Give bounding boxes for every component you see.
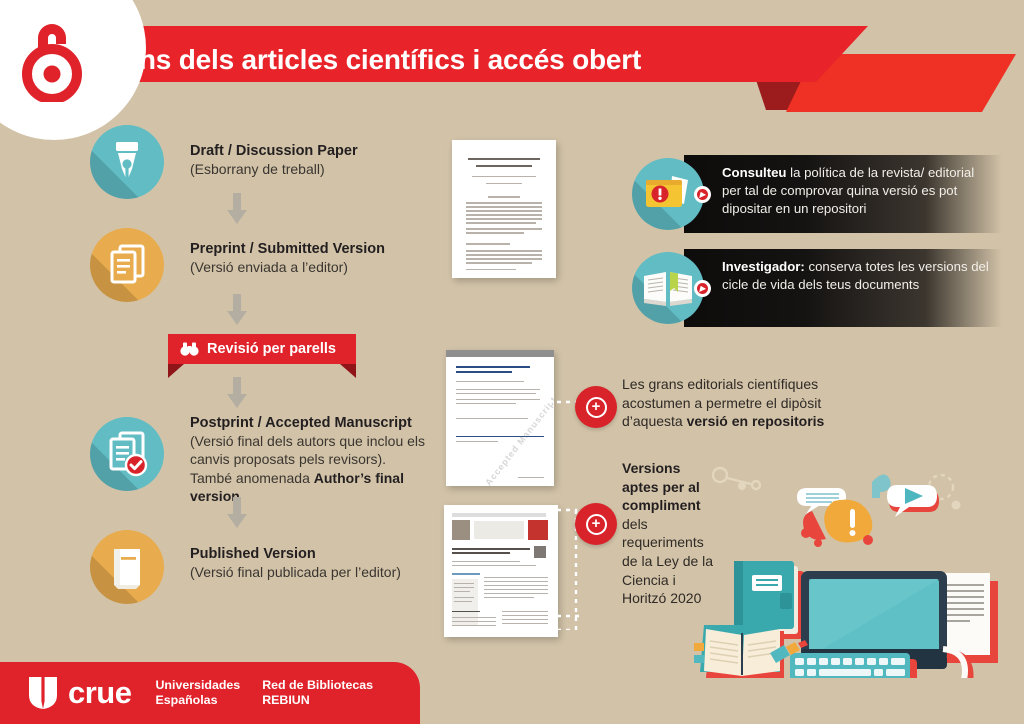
arrow-down-icon xyxy=(226,377,248,411)
note-bold: versió en repositoris xyxy=(687,413,825,429)
book-closed-icon xyxy=(90,530,164,604)
step-title-published: Published Version xyxy=(190,545,435,563)
page-title: Versions dels articles científics i accé… xyxy=(56,40,756,80)
footer-col-rebiun: Red de Bibliotecas REBIUN xyxy=(262,678,373,708)
desk-workstation-illustration xyxy=(694,453,1024,678)
step-title-draft: Draft / Discussion Paper xyxy=(190,142,430,160)
footer-brand: crue xyxy=(68,675,131,711)
callout-text-consulteu: Consulteu la política de la revista/ edi… xyxy=(722,164,990,219)
preprint-thumbnail xyxy=(452,140,556,278)
arrow-right-icon: ▶ xyxy=(694,186,711,203)
step-subtitle-draft: (Esborrany de treball) xyxy=(190,160,430,178)
arrow-down-icon xyxy=(226,294,248,328)
published-article-thumbnail xyxy=(444,505,558,637)
footer-col2-line1: Red de Bibliotecas xyxy=(262,678,373,693)
plus-circle-icon-1: + xyxy=(575,386,617,428)
footer-col2-line2: REBIUN xyxy=(262,693,373,708)
infographic-canvas: Versions dels articles científics i accé… xyxy=(0,0,1024,724)
banner-fold-right xyxy=(340,364,356,378)
callout-lead: Consulteu xyxy=(722,165,786,180)
note-editorials: Les grans editorials científiques acostu… xyxy=(622,375,842,431)
arrow-down-icon xyxy=(226,193,248,227)
callout-lead: Investigador: xyxy=(722,259,805,274)
footer-col1-line2: Españolas xyxy=(155,693,240,708)
step-subtitle-published: (Versió final publicada per l’editor) xyxy=(190,563,435,581)
preprint-text-block: Preprint / Submitted Version (Versió env… xyxy=(190,240,440,276)
draft-text-block: Draft / Discussion Paper (Esborrany de t… xyxy=(190,142,430,178)
step-title-postprint: Postprint / Accepted Manuscript xyxy=(190,414,428,432)
accepted-manuscript-thumbnail: Accepted Manuscript xyxy=(446,350,554,486)
arrow-right-icon: ▶ xyxy=(694,280,711,297)
documents-check-icon xyxy=(90,417,164,491)
binoculars-icon xyxy=(180,342,199,356)
step-title-preprint: Preprint / Submitted Version xyxy=(190,240,440,258)
banner-fold-left xyxy=(168,364,184,378)
arrow-down-icon xyxy=(226,497,248,531)
note-bold: Versions aptes per al compliment xyxy=(622,460,701,513)
open-access-logo xyxy=(16,16,88,102)
footer-bar: crue Universidades Españolas Red de Bibl… xyxy=(0,662,420,724)
pen-nib-icon xyxy=(90,125,164,199)
postprint-text-block: Postprint / Accepted Manuscript (Versió … xyxy=(190,414,428,505)
plus-circle-icon-2: + xyxy=(575,503,617,545)
crue-shield-logo xyxy=(28,676,58,710)
step-subtitle-postprint: (Versió final dels autors que inclou els… xyxy=(190,432,428,505)
peer-review-banner: Revisió per parells xyxy=(168,334,356,364)
documents-stack-icon xyxy=(90,228,164,302)
footer-col1-line1: Universidades xyxy=(155,678,240,693)
footer-col-universidades: Universidades Españolas xyxy=(155,678,240,708)
step-subtitle-preprint: (Versió enviada a l’editor) xyxy=(190,258,440,276)
dotted-connector-bottom xyxy=(548,605,608,627)
peer-review-label: Revisió per parells xyxy=(207,341,336,357)
callout-text-investigador: Investigador: conserva totes les version… xyxy=(722,258,990,294)
published-text-block: Published Version (Versió final publicad… xyxy=(190,545,435,581)
